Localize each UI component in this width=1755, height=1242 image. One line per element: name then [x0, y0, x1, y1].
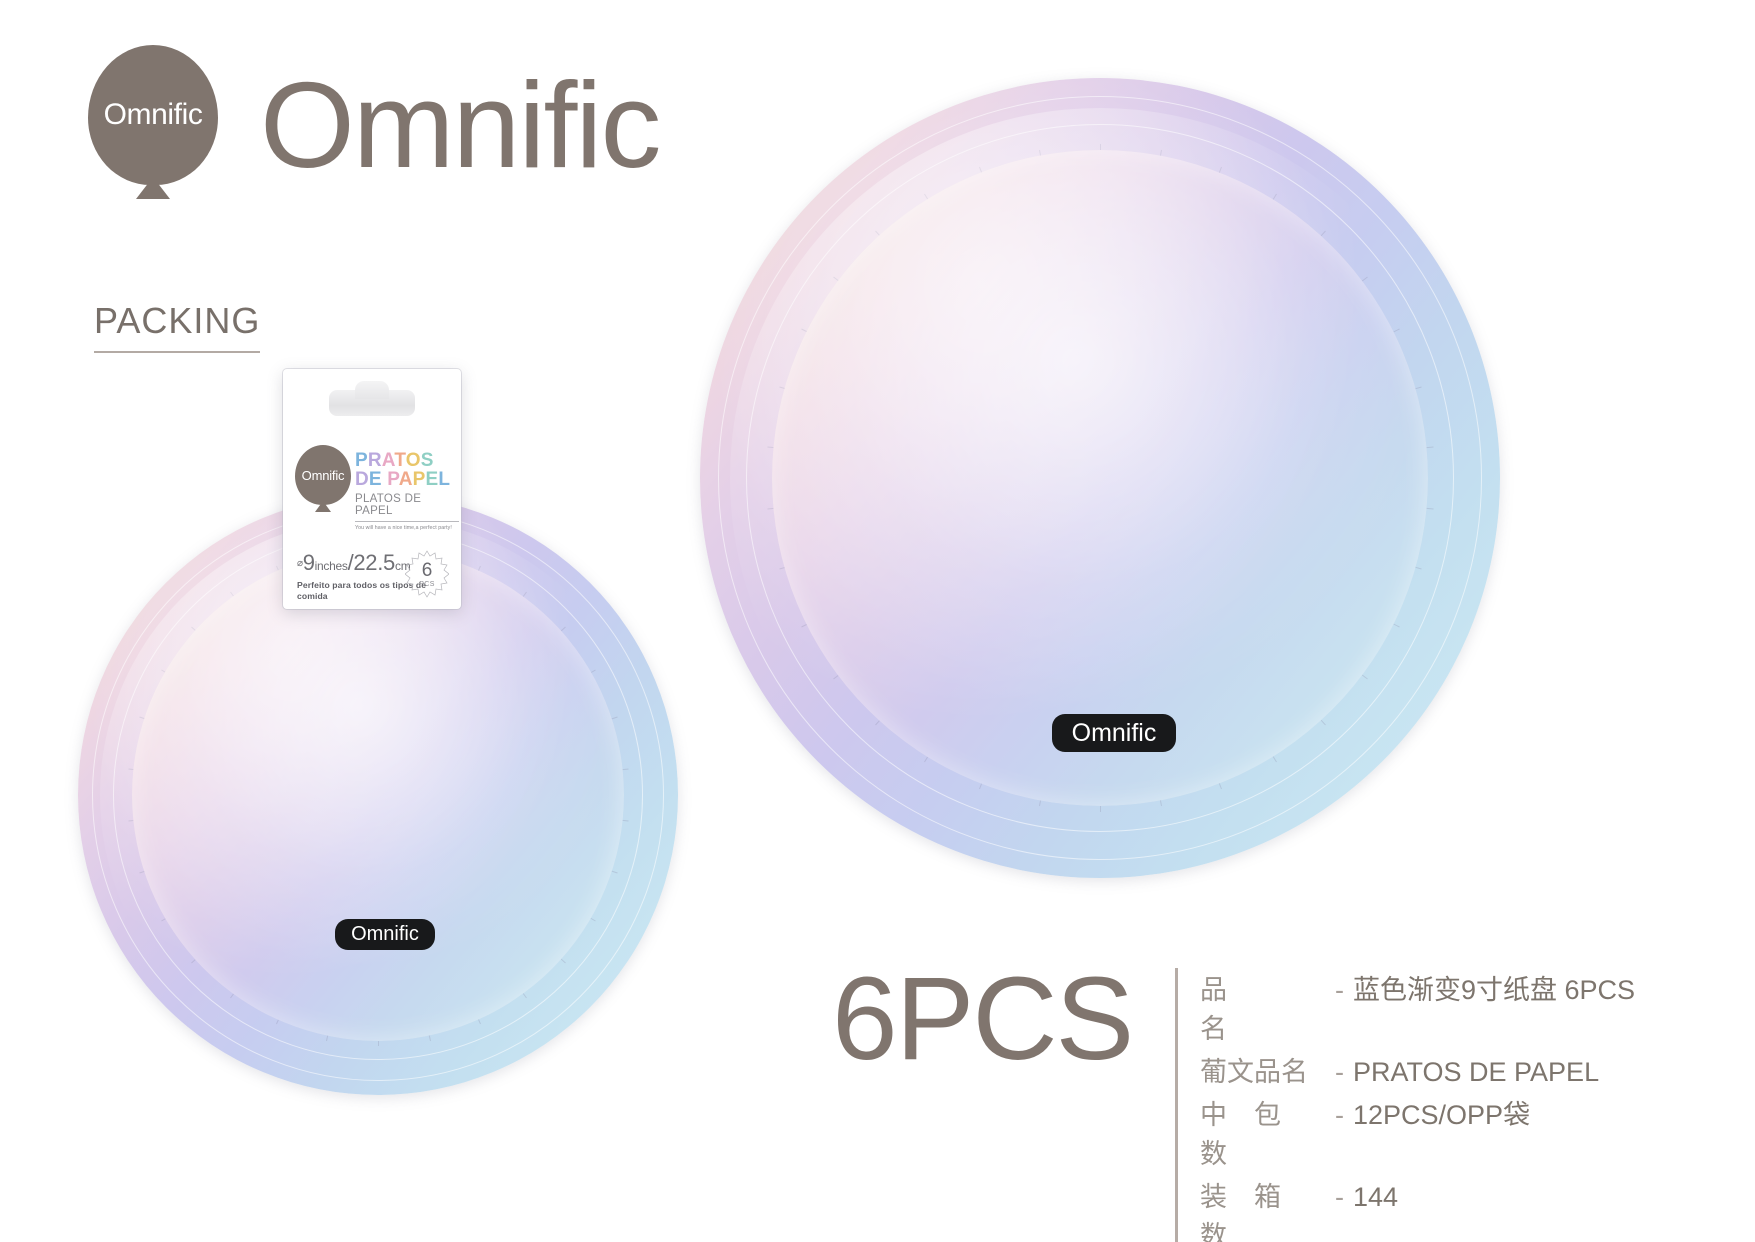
card-balloon-knot	[315, 501, 331, 512]
spec-value: PRATOS DE PAPEL	[1353, 1057, 1599, 1088]
spec-value: 144	[1353, 1182, 1398, 1213]
card-balloon-logo-icon: Omnific	[295, 445, 351, 515]
balloon-body: Omnific	[88, 45, 218, 185]
brand-wordmark: Omnific	[260, 64, 659, 186]
packing-label: PACKING	[94, 300, 260, 353]
title2-char-p: P	[387, 469, 398, 490]
product-image-large-plate: Omnific	[700, 78, 1500, 878]
card-title-block: PRATOS DE PAPEL PLATOS DE PAPEL You will…	[355, 451, 459, 531]
title-char-p: P	[355, 450, 368, 471]
spec-row: 装 箱 数-144	[1200, 1175, 1635, 1242]
card-title-line-2: DE PAPEL	[355, 470, 459, 489]
plate-brand-badge: Omnific	[1052, 714, 1176, 752]
card-balloon-label: Omnific	[302, 468, 345, 483]
packaging-card: Omnific PRATOS DE PAPEL PLATOS DE PAPEL …	[283, 369, 461, 609]
spec-table: 品 名-蓝色渐变9寸纸盘 6PCS葡文品名-PRATOS DE PAPEL中 包…	[1175, 968, 1635, 1242]
title2-char-d: D	[355, 469, 369, 490]
balloon-knot	[136, 177, 170, 199]
balloon-logo-icon: Omnific	[88, 45, 218, 205]
spec-key: 中 包 数	[1200, 1093, 1326, 1171]
product-spec-sheet: Omnific Omnific PACKING Omnific Omnific …	[0, 0, 1755, 1242]
plate-well	[132, 549, 624, 1041]
title2-char-p2: P	[413, 469, 426, 490]
size-inches-unit: inches	[315, 559, 348, 573]
title-char-a: A	[382, 450, 395, 471]
size-cm-number: 22.5	[353, 550, 395, 575]
title2-char-e: E	[369, 469, 382, 490]
title-char-t: T	[394, 450, 405, 471]
hang-hole-icon	[329, 390, 415, 416]
card-pcs-label: PCS	[419, 581, 435, 588]
title-char-r: R	[368, 450, 382, 471]
spec-dash: -	[1335, 975, 1344, 1006]
title-char-s: S	[421, 450, 434, 471]
spec-row: 品 名-蓝色渐变9寸纸盘 6PCS	[1200, 968, 1635, 1046]
title-char-o: O	[406, 450, 421, 471]
spec-value: 12PCS/OPP袋	[1353, 1093, 1530, 1132]
card-pcs-badge: 6 PCS	[405, 550, 449, 598]
spec-key: 品 名	[1200, 968, 1326, 1046]
spec-key: 装 箱 数	[1200, 1175, 1326, 1242]
card-balloon-body: Omnific	[295, 445, 351, 505]
spec-key: 葡文品名	[1200, 1050, 1326, 1089]
spec-row: 葡文品名-PRATOS DE PAPEL	[1200, 1050, 1635, 1089]
size-inches-number: 9	[303, 550, 315, 575]
title2-char-l: L	[438, 469, 450, 490]
card-tagline: You will have a nice time,a perfect part…	[355, 521, 459, 531]
plate-brand-badge: Omnific	[335, 919, 435, 950]
spec-dash: -	[1335, 1182, 1344, 1213]
balloon-logo-label: Omnific	[104, 98, 203, 132]
card-pcs-number: 6	[422, 561, 433, 580]
card-subtitle: PLATOS DE PAPEL	[355, 493, 459, 517]
plate-well	[772, 150, 1428, 806]
spec-row: 中 包 数-12PCS/OPP袋	[1200, 1093, 1635, 1171]
card-title-line-1: PRATOS	[355, 451, 459, 470]
spec-dash: -	[1335, 1057, 1344, 1088]
packing-section: PACKING	[94, 300, 260, 353]
brand-header: Omnific Omnific	[88, 45, 659, 205]
spec-value: 蓝色渐变9寸纸盘 6PCS	[1353, 968, 1635, 1007]
quantity-callout: 6PCS	[832, 960, 1132, 1078]
title2-char-a: A	[399, 469, 413, 490]
spec-dash: -	[1335, 1100, 1344, 1131]
title2-char-e2: E	[426, 469, 439, 490]
